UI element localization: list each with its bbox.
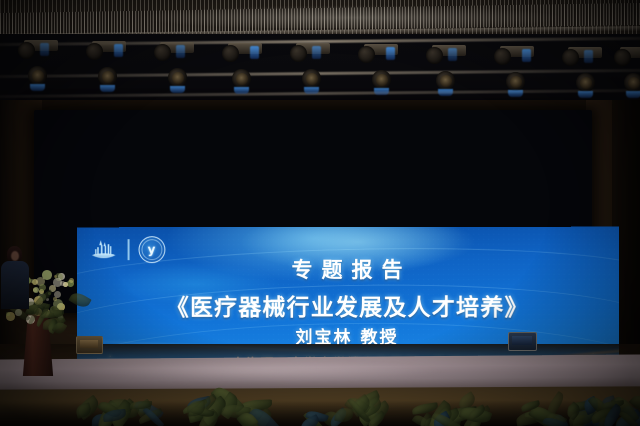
wall-control-panel[interactable] bbox=[508, 332, 537, 351]
lamp-blue-glow bbox=[584, 50, 593, 63]
lamp-head bbox=[358, 46, 375, 63]
stage-surface-highlight bbox=[40, 358, 520, 384]
control-panel-face bbox=[512, 336, 532, 345]
lamp-base-glow bbox=[626, 91, 640, 98]
flower-bloom bbox=[53, 297, 57, 301]
lamp-base-glow bbox=[234, 87, 249, 94]
plant-leaf bbox=[334, 407, 354, 423]
slide-header-line: 专题报告 bbox=[77, 254, 619, 284]
potted-plant bbox=[576, 386, 640, 426]
flower-bloom bbox=[39, 284, 46, 291]
potted-plant bbox=[66, 386, 152, 426]
lamp-base-glow bbox=[304, 87, 319, 94]
lamp-lens bbox=[376, 74, 388, 86]
plant-leaf bbox=[75, 402, 93, 418]
lamp-base-glow bbox=[30, 84, 45, 91]
lamp-head bbox=[290, 45, 307, 62]
flower-bloom bbox=[60, 281, 65, 286]
lamp-base-glow bbox=[100, 85, 115, 92]
lamp-base-glow bbox=[438, 89, 453, 96]
lamp-head bbox=[154, 44, 171, 61]
lamp-blue-glow bbox=[448, 48, 457, 61]
lamp-lens bbox=[236, 73, 248, 85]
lamp-blue-glow bbox=[522, 49, 531, 62]
flower-bloom bbox=[6, 312, 10, 316]
lamp-base-glow bbox=[374, 88, 389, 95]
conference-hall-scene: y 专题报告 《医疗器械行业发展及人才培养》 刘宝林 教授 上海理工大学大学博士… bbox=[0, 0, 640, 426]
lamp-base-glow bbox=[508, 90, 523, 97]
lamp-blue-glow bbox=[312, 46, 321, 59]
led-screen-bezel: y 专题报告 《医疗器械行业发展及人才培养》 刘宝林 教授 上海理工大学大学博士… bbox=[34, 110, 592, 313]
potted-plant bbox=[288, 386, 374, 426]
outlet-panel-face bbox=[80, 340, 98, 348]
lamp-base-glow bbox=[578, 91, 593, 98]
lamp-base-glow bbox=[170, 86, 185, 93]
lamp-head bbox=[614, 49, 631, 66]
lamp-blue-glow bbox=[386, 47, 395, 60]
lamp-lens bbox=[172, 72, 184, 84]
lamp-blue-glow bbox=[176, 45, 185, 58]
seated-attendee bbox=[0, 246, 30, 308]
lamp-head bbox=[18, 42, 35, 59]
lamp-lens bbox=[510, 76, 522, 88]
lamp-lens bbox=[580, 77, 592, 89]
lamp-lens bbox=[102, 71, 114, 83]
lamp-head bbox=[86, 43, 103, 60]
attendee-body bbox=[1, 261, 29, 309]
lamp-lens bbox=[32, 70, 44, 82]
lamp-head bbox=[426, 47, 443, 64]
lamp-head bbox=[494, 48, 511, 65]
ceiling-glow bbox=[0, 2, 640, 28]
lamp-blue-glow bbox=[114, 44, 123, 57]
lamp-lens bbox=[628, 77, 640, 89]
lamp-head bbox=[562, 49, 579, 66]
lamp-lens bbox=[440, 75, 452, 87]
lamp-head bbox=[222, 45, 239, 62]
potted-plant bbox=[400, 386, 486, 426]
flower-bloom bbox=[69, 278, 74, 283]
potted-plant bbox=[176, 386, 262, 426]
flower-bloom bbox=[30, 279, 34, 283]
attendee-face bbox=[11, 251, 19, 261]
lamp-lens bbox=[306, 73, 318, 85]
lamp-blue-glow bbox=[250, 46, 259, 59]
lamp-blue-glow bbox=[40, 43, 49, 56]
slide-title-line: 《医疗器械行业发展及人才培养》 bbox=[77, 288, 619, 322]
